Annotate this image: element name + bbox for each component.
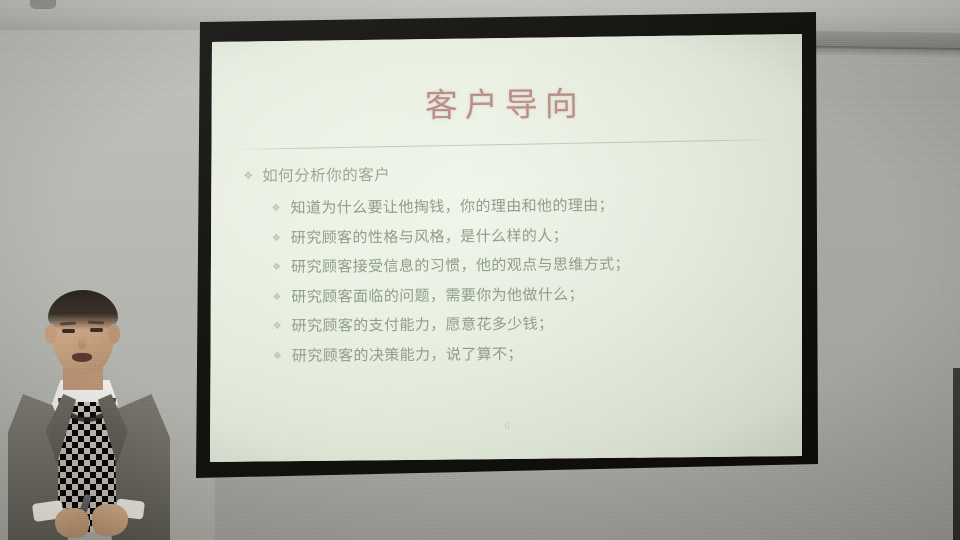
bullet-diamond-icon: ❖ <box>272 233 281 243</box>
classroom-scene: 客户导向 ❖ 如何分析你的客户 ❖ 知道为什么要让他掏钱，你的理由和他的理由； … <box>0 0 960 540</box>
eye-right <box>90 328 103 332</box>
slide-title: 客户导向 <box>210 75 801 128</box>
bullet-diamond-icon: ❖ <box>273 351 282 361</box>
bullet-text: 研究顾客的支付能力，愿意花多少钱； <box>292 313 554 336</box>
bullet-diamond-icon: ❖ <box>272 204 281 214</box>
bullet-diamond-icon: ❖ <box>272 263 281 273</box>
projection-screen-frame: 客户导向 ❖ 如何分析你的客户 ❖ 知道为什么要让他掏钱，你的理由和他的理由； … <box>196 12 818 478</box>
bullet-diamond-icon: ❖ <box>273 322 282 332</box>
bullet-text: 研究顾客的决策能力，说了算不； <box>292 342 523 365</box>
hand-right <box>92 504 128 536</box>
bullet-item: ❖ 知道为什么要让他掏钱，你的理由和他的理由； <box>272 193 782 218</box>
slide-content: 客户导向 ❖ 如何分析你的客户 ❖ 知道为什么要让他掏钱，你的理由和他的理由； … <box>210 34 802 462</box>
bullet-item: ❖ 研究顾客的性格与风格，是什么样的人； <box>272 222 782 247</box>
bullet-diamond-icon: ❖ <box>243 170 253 181</box>
bullet-text: 如何分析你的客户 <box>262 163 390 186</box>
bullet-item: ❖ 研究顾客面临的问题，需要你为他做什么； <box>272 281 782 306</box>
bullet-text: 研究顾客接受信息的习惯，他的观点与思维方式； <box>291 253 630 277</box>
bullet-text: 研究顾客的性格与风格，是什么样的人； <box>291 224 568 247</box>
bullet-item: ❖ 研究顾客的支付能力，愿意花多少钱； <box>273 311 783 336</box>
ceiling-fixture <box>30 0 56 9</box>
slide-bullet-list: ❖ 如何分析你的客户 ❖ 知道为什么要让他掏钱，你的理由和他的理由； ❖ 研究顾… <box>243 160 783 375</box>
bullet-text: 知道为什么要让他掏钱，你的理由和他的理由； <box>291 194 615 218</box>
hand-left <box>55 508 89 538</box>
mouth <box>72 353 92 362</box>
slide-page-number: 6 <box>212 419 802 434</box>
projection-screen-surface: 客户导向 ❖ 如何分析你的客户 ❖ 知道为什么要让他掏钱，你的理由和他的理由； … <box>210 34 802 462</box>
hair <box>48 290 118 330</box>
bullet-item: ❖ 研究顾客的决策能力，说了算不； <box>273 340 783 365</box>
right-wall-edge-panel <box>953 368 960 540</box>
eye-left <box>62 329 75 333</box>
bullet-item: ❖ 研究顾客接受信息的习惯，他的观点与思维方式； <box>272 252 782 277</box>
presenter-person <box>0 290 200 540</box>
nose <box>78 335 86 349</box>
title-divider-rule <box>235 139 779 150</box>
ear-left <box>45 324 57 344</box>
ear-right <box>108 324 120 344</box>
bullet-diamond-icon: ❖ <box>272 292 281 302</box>
bullet-item: ❖ 如何分析你的客户 <box>243 160 781 187</box>
bullet-text: 研究顾客面临的问题，需要你为他做什么； <box>291 283 584 307</box>
